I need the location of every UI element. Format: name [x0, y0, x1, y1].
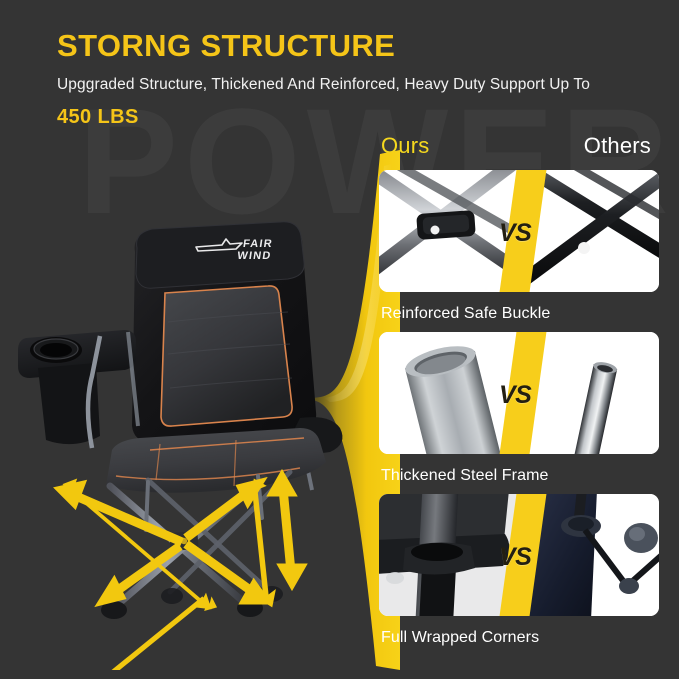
panel-caption-wrapped-corners: Full Wrapped Corners [381, 629, 539, 647]
page-subtitle: Upggraded Structure, Thickened And Reinf… [57, 76, 590, 94]
cup-holder [30, 337, 82, 363]
panel-caption-buckle: Reinforced Safe Buckle [381, 305, 550, 323]
vs-badge-1: VS [499, 219, 531, 248]
vs-badge-3: VS [499, 543, 531, 572]
safe-buckle [416, 210, 476, 240]
svg-text:WIND: WIND [236, 250, 272, 262]
svg-text:FAIR: FAIR [242, 238, 274, 250]
column-header-others: Others [584, 133, 651, 159]
infographic-canvas: POWER STORNG STRUCTURE Upggraded Structu… [0, 0, 679, 679]
vs-badge-2: VS [499, 381, 531, 410]
product-photo-camping-chair: FAIR WIND [0, 200, 370, 670]
weight-capacity-label: 450 LBS [57, 106, 139, 129]
page-title: STORNG STRUCTURE [57, 28, 395, 64]
panel-caption-steel-frame: Thickened Steel Frame [381, 467, 549, 485]
